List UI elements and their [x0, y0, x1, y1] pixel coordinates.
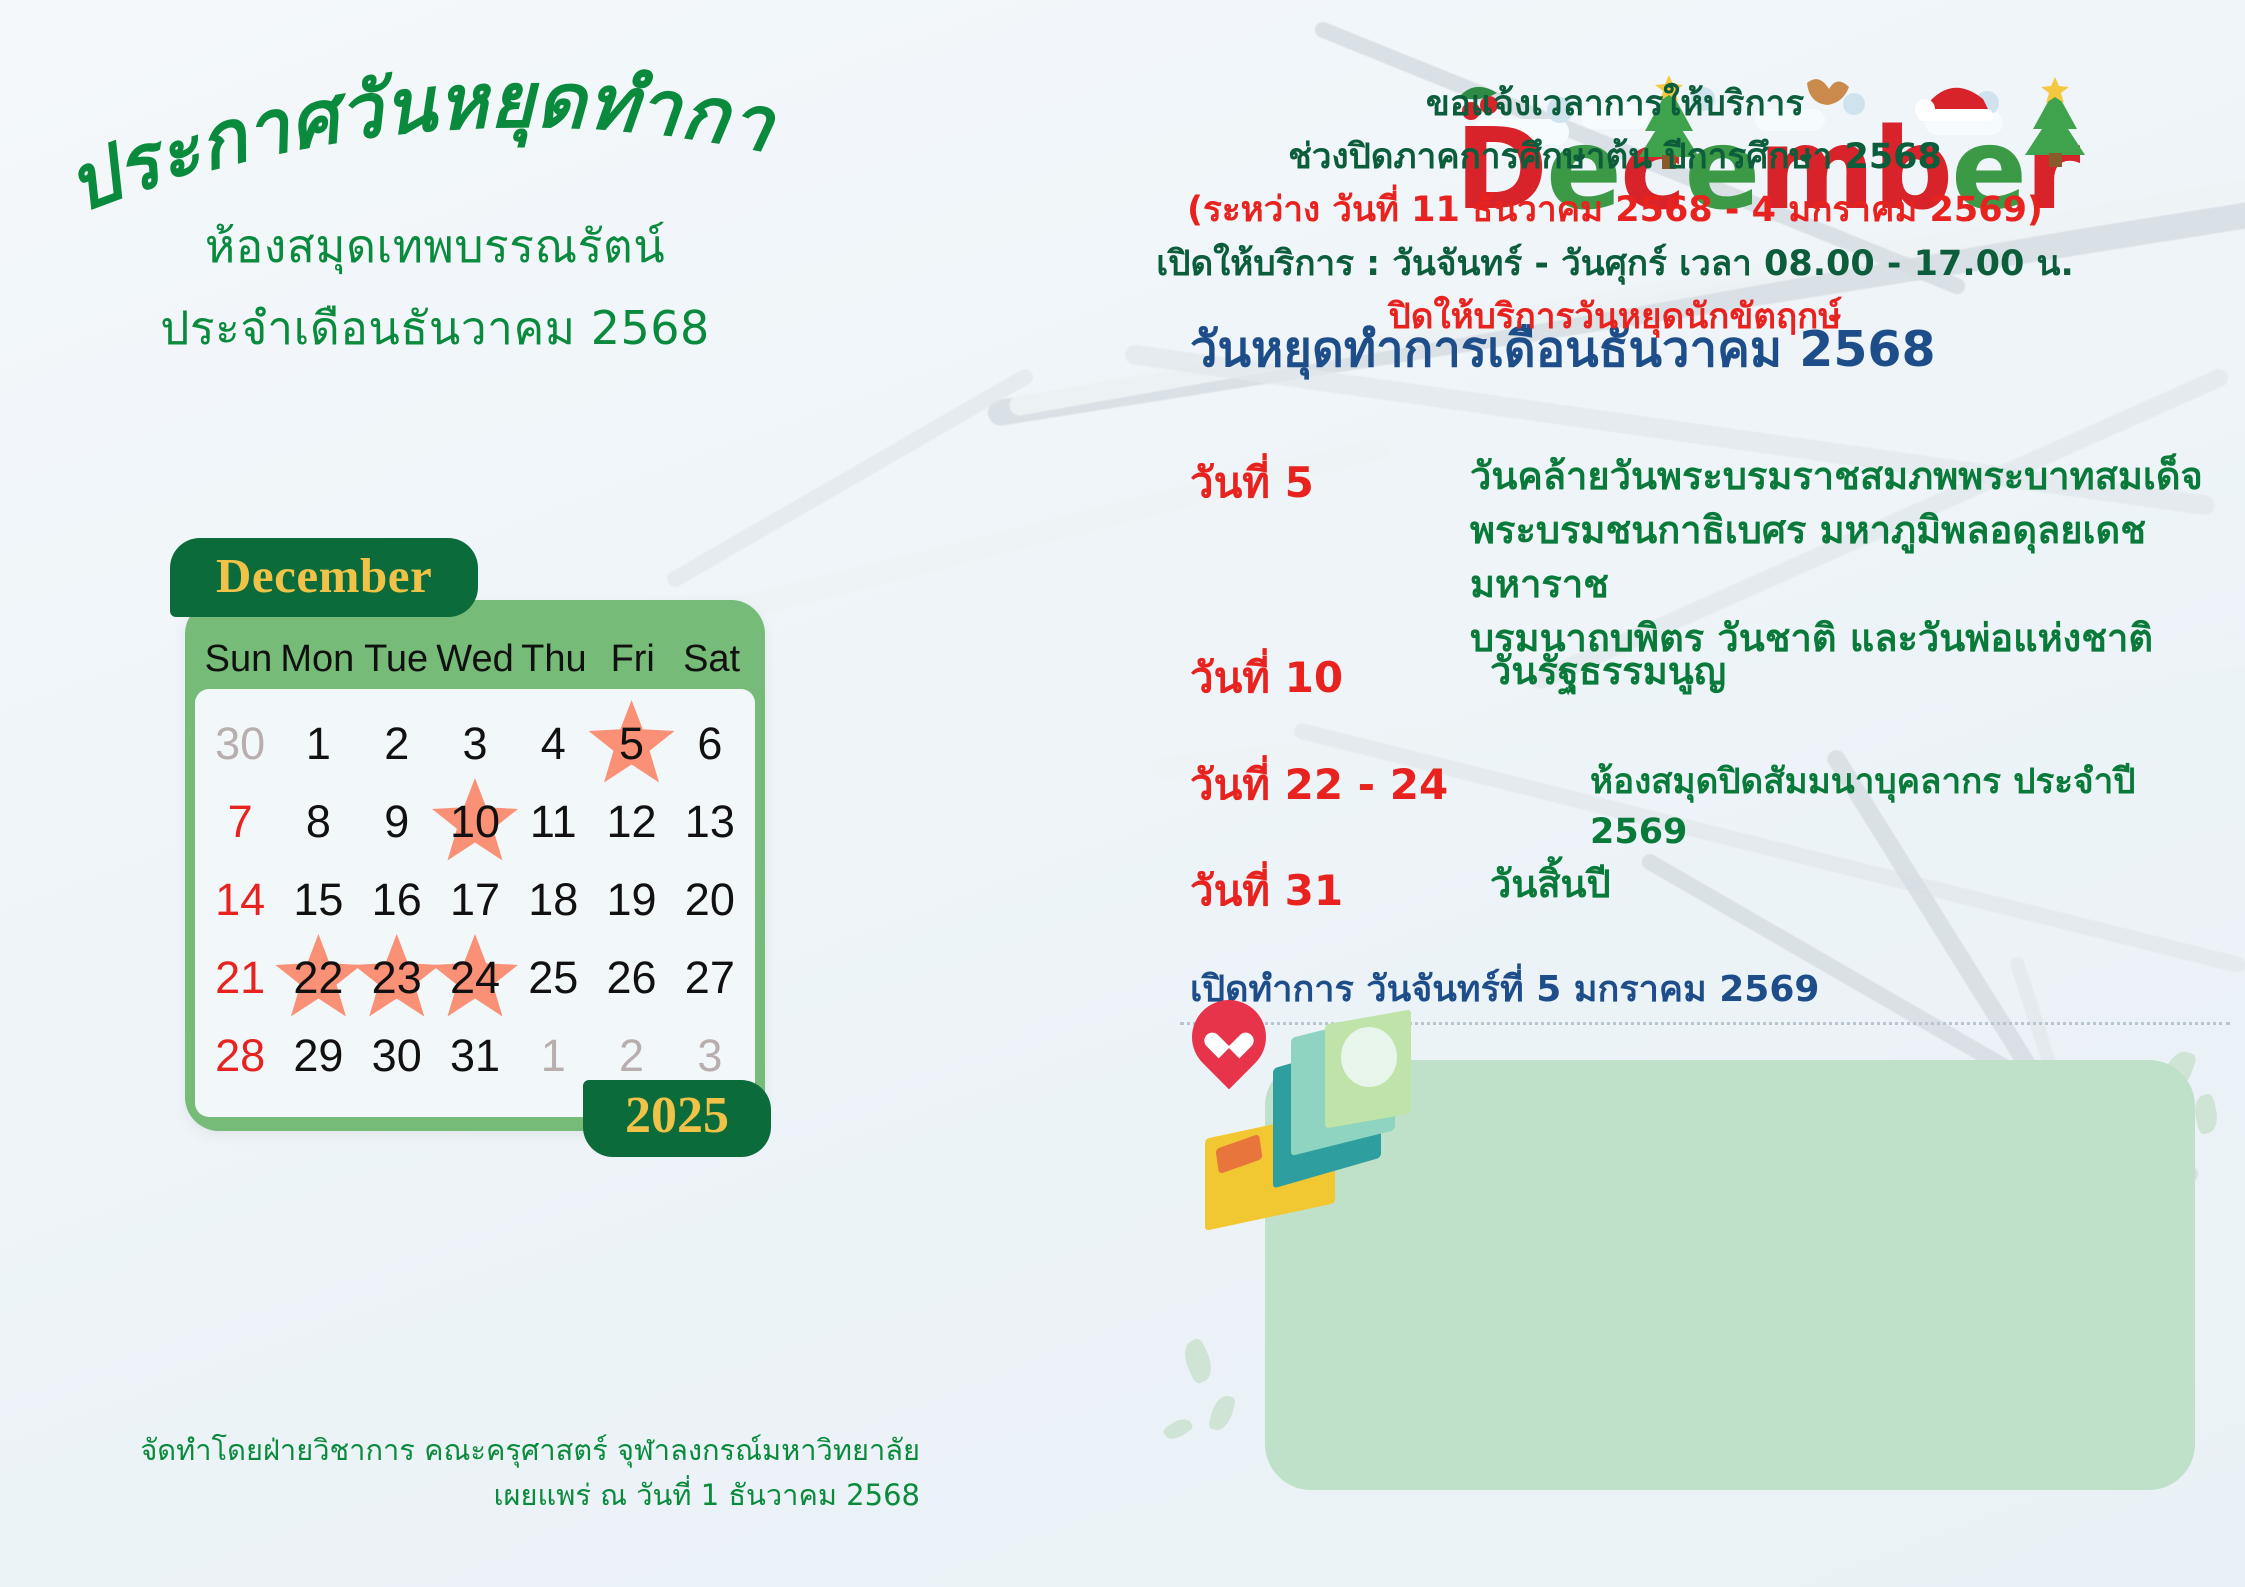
calendar-day-cell[interactable]: 21 [201, 939, 279, 1017]
calendar-widget: December Sun Mon Tue Wed Thu Fri Sat 301… [185, 600, 765, 1131]
calendar-day-cell[interactable]: 9 [358, 783, 436, 861]
calendar-day-number: 2 [619, 1030, 644, 1082]
service-line-5: ปิดให้บริการวันหยุดนักขัตฤกษ์ [1150, 291, 2080, 344]
service-line-1: ขอแจ้งเวลาการให้บริการ [1150, 78, 2080, 131]
calendar-day-cell[interactable]: 18 [514, 861, 592, 939]
calendar-day-cell[interactable]: 5 [592, 705, 670, 783]
calendar-year-badge: 2025 [583, 1080, 771, 1157]
weekday-mon: Mon [278, 638, 357, 681]
calendar-day-number: 14 [215, 874, 265, 926]
calendar-day-number: 20 [685, 874, 735, 926]
calendar-day-cell[interactable]: 15 [279, 861, 357, 939]
service-line-3: (ระหว่าง วันที่ 11 ธันวาคม 2568 - 4 มกรา… [1150, 184, 2080, 237]
calendar-day-cell[interactable]: 7 [201, 783, 279, 861]
holiday-description: ห้องสมุดปิดสัมมนาบุคลากร ประจำปี 2569 [1590, 752, 2240, 857]
calendar-day-number: 26 [607, 952, 657, 1004]
calendar-day-number: 18 [528, 874, 578, 926]
weekday-fri: Fri [593, 638, 672, 681]
poster-canvas: ประกาศวันหยุดทำการ ห้องสมุดเทพบรรณรัตน์ … [0, 0, 2245, 1587]
holiday-description: วันรัฐธรรมนูญ [1490, 645, 2240, 699]
calendar-day-cell[interactable]: 2 [358, 705, 436, 783]
calendar-day-number: 8 [306, 796, 331, 848]
calendar-day-number: 24 [450, 952, 500, 1004]
calendar-day-cell[interactable]: 1 [279, 705, 357, 783]
calendar-day-cell[interactable]: 13 [671, 783, 749, 861]
calendar-day-number: 10 [450, 796, 500, 848]
calendar-day-cell[interactable]: 28 [201, 1017, 279, 1095]
calendar-day-cell[interactable]: 3 [436, 705, 514, 783]
location-pin-icon [1192, 1000, 1266, 1096]
calendar-day-number: 16 [372, 874, 422, 926]
service-line-4: เปิดให้บริการ : วันจันทร์ - วันศุกร์ เวล… [1150, 238, 2080, 291]
right-content: วันหยุดทำการเดือนธันวาคม 2568 วันที่ 5 ว… [1150, 0, 2245, 1587]
calendar-day-cell[interactable]: 4 [514, 705, 592, 783]
calendar-day-number: 9 [384, 796, 409, 848]
calendar-day-cell[interactable]: 17 [436, 861, 514, 939]
holiday-description: วันคล้ายวันพระบรมราชสมภพพระบาทสมเด็จ พระ… [1470, 450, 2240, 666]
holiday-date: วันที่ 5 [1190, 450, 1314, 516]
holiday-date: วันที่ 10 [1190, 645, 1343, 711]
weekday-sun: Sun [199, 638, 278, 681]
holiday-desc-line: พระบรมชนกาธิเบศร มหาภูมิพลอดุลยเดชมหาราช [1470, 504, 2240, 612]
subtitle-library-name: ห้องสมุดเทพบรรณรัตน์ [55, 210, 815, 283]
calendar-day-number: 7 [228, 796, 253, 848]
calendar-day-number: 11 [530, 796, 577, 848]
calendar-day-cell[interactable]: 22 [279, 939, 357, 1017]
calendar-day-number: 30 [215, 718, 265, 770]
calendar-day-cell[interactable]: 25 [514, 939, 592, 1017]
calendar-day-number: 6 [697, 718, 722, 770]
calendar-day-cell[interactable]: 16 [358, 861, 436, 939]
calendar-day-number: 29 [293, 1030, 343, 1082]
calendar-day-cell[interactable]: 19 [592, 861, 670, 939]
calendar-day-number: 13 [685, 796, 735, 848]
holiday-desc-line: ห้องสมุดปิดสัมมนาบุคลากร ประจำปี 2569 [1590, 758, 2240, 857]
weekday-thu: Thu [514, 638, 593, 681]
calendar-day-cell[interactable]: 10 [436, 783, 514, 861]
calendar-day-number: 28 [215, 1030, 265, 1082]
calendar-day-cell[interactable]: 30 [358, 1017, 436, 1095]
holiday-entry: วันที่ 5 วันคล้ายวันพระบรมราชสมภพพระบาทส… [1190, 450, 2240, 666]
calendar-day-number: 17 [450, 874, 500, 926]
calendar-week-row: 78910111213 [201, 783, 749, 861]
weekday-tue: Tue [357, 638, 436, 681]
calendar-day-number: 4 [541, 718, 566, 770]
credit-publish-date: เผยแพร่ ณ วันที่ 1 ธันวาคม 2568 [40, 1473, 920, 1518]
holiday-entry: วันที่ 31 วันสิ้นปี [1190, 858, 2240, 912]
holiday-desc-line: วันรัฐธรรมนูญ [1490, 645, 2240, 699]
service-hours-text: ขอแจ้งเวลาการให้บริการ ช่วงปิดภาคการศึกษ… [1150, 78, 2080, 344]
calendar-day-number: 2 [384, 718, 409, 770]
calendar-day-cell[interactable]: 24 [436, 939, 514, 1017]
holiday-description: วันสิ้นปี [1490, 858, 2240, 912]
holiday-date: วันที่ 31 [1190, 858, 1343, 924]
calendar-day-number: 25 [528, 952, 578, 1004]
holiday-date: วันที่ 22 - 24 [1190, 752, 1448, 818]
calendar-day-cell[interactable]: 12 [592, 783, 670, 861]
credit-organization: จัดทำโดยฝ่ายวิชาการ คณะครุศาสตร์ จุฬาลงก… [40, 1428, 920, 1473]
calendar-day-cell[interactable]: 23 [358, 939, 436, 1017]
calendar-day-cell[interactable]: 26 [592, 939, 670, 1017]
calendar-card: December Sun Mon Tue Wed Thu Fri Sat 301… [185, 600, 765, 1131]
calendar-day-number: 21 [215, 952, 265, 1004]
footer-credit: จัดทำโดยฝ่ายวิชาการ คณะครุศาสตร์ จุฬาลงก… [40, 1428, 920, 1518]
calendar-day-number: 30 [372, 1030, 422, 1082]
calendar-day-number: 19 [607, 874, 657, 926]
calendar-day-cell[interactable]: 11 [514, 783, 592, 861]
calendar-day-cell[interactable]: 29 [279, 1017, 357, 1095]
calendar-day-number: 3 [697, 1030, 722, 1082]
calendar-day-number: 31 [450, 1030, 500, 1082]
weekday-sat: Sat [672, 638, 751, 681]
calendar-day-number: 15 [293, 874, 343, 926]
page-title-text: ประกาศวันหยุดทำการ [49, 24, 784, 230]
calendar-week-row: 14151617181920 [201, 861, 749, 939]
weekday-wed: Wed [436, 638, 515, 681]
calendar-week-row: 30123456 [201, 705, 749, 783]
left-column: ประกาศวันหยุดทำการ ห้องสมุดเทพบรรณรัตน์ … [0, 0, 1020, 1587]
holiday-entry: วันที่ 22 - 24 ห้องสมุดปิดสัมมนาบุคลากร … [1190, 752, 2240, 857]
calendar-day-cell[interactable]: 6 [671, 705, 749, 783]
calendar-day-number: 1 [306, 718, 331, 770]
calendar-day-cell[interactable]: 8 [279, 783, 357, 861]
subtitle-month-year: ประจำเดือนธันวาคม 2568 [55, 292, 815, 365]
calendar-week-row: 21222324252627 [201, 939, 749, 1017]
holiday-desc-line: วันคล้ายวันพระบรมราชสมภพพระบาทสมเด็จ [1470, 450, 2240, 504]
reopen-note: เปิดทำการ วันจันทร์ที่ 5 มกราคม 2569 [1190, 960, 1819, 1017]
calendar-day-cell[interactable]: 30 [201, 705, 279, 783]
calendar-month-badge: December [170, 538, 478, 617]
calendar-day-cell[interactable]: 31 [436, 1017, 514, 1095]
calendar-day-number: 23 [372, 952, 422, 1004]
service-line-2: ช่วงปิดภาคการศึกษาต้น ปีการศึกษา 2568 [1150, 131, 2080, 184]
calendar-day-number: 5 [619, 718, 644, 770]
calendar-grid: 3012345678910111213141516171819202122232… [195, 689, 755, 1117]
calendar-day-number: 22 [293, 952, 343, 1004]
calendar-day-cell[interactable]: 14 [201, 861, 279, 939]
calendar-day-cell[interactable]: 1 [514, 1017, 592, 1095]
calendar-day-number: 12 [607, 796, 657, 848]
calendar-day-number: 27 [685, 952, 735, 1004]
calendar-day-number: 1 [541, 1030, 566, 1082]
page-title: ประกาศวันหยุดทำการ [70, 95, 790, 225]
calendar-day-number: 3 [462, 718, 487, 770]
holiday-entry: วันที่ 10 วันรัฐธรรมนูญ [1190, 645, 2240, 699]
holiday-desc-line: วันสิ้นปี [1490, 858, 2240, 912]
calendar-day-cell[interactable]: 27 [671, 939, 749, 1017]
calendar-day-cell[interactable]: 20 [671, 861, 749, 939]
